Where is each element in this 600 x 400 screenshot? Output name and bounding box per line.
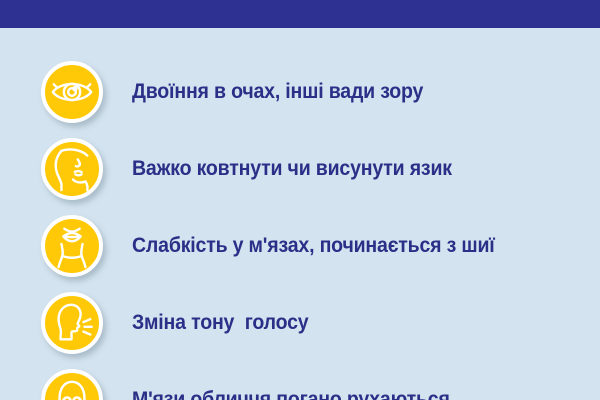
symptom-item: Зміна тону голосу bbox=[0, 284, 600, 361]
face-profile-swallow-icon bbox=[49, 146, 95, 192]
symptom-item: Слабкість у м'язах, починається з шиї bbox=[0, 207, 600, 284]
face-droopy-eyes-icon bbox=[49, 377, 95, 400]
eye-icon bbox=[49, 69, 95, 115]
symptom-icon-badge bbox=[41, 138, 103, 200]
symptom-list: Двоїння в очах, інші вади зору Ва bbox=[0, 28, 600, 400]
symptom-item: М'язи обличчя погано рухаються bbox=[0, 361, 600, 400]
symptom-icon-badge bbox=[41, 292, 103, 354]
symptom-label: Важко ковтнути чи висунути язик bbox=[132, 157, 452, 181]
neck-shoulders-mouth-icon bbox=[49, 223, 95, 269]
symptom-icon-badge bbox=[41, 369, 103, 400]
symptom-label: М'язи обличчя погано рухаються bbox=[132, 388, 450, 400]
infographic-page: Двоїння в очах, інші вади зору Ва bbox=[0, 0, 600, 400]
symptom-icon-badge bbox=[41, 215, 103, 277]
symptom-label: Зміна тону голосу bbox=[132, 311, 308, 335]
top-bar bbox=[0, 0, 600, 28]
head-speaking-icon bbox=[49, 300, 95, 346]
symptom-label: Двоїння в очах, інші вади зору bbox=[132, 80, 423, 104]
symptom-icon-badge bbox=[41, 61, 103, 123]
symptom-label: Слабкість у м'язах, починається з шиї bbox=[132, 234, 495, 258]
symptom-item: Двоїння в очах, інші вади зору bbox=[0, 53, 600, 130]
symptom-item: Важко ковтнути чи висунути язик bbox=[0, 130, 600, 207]
